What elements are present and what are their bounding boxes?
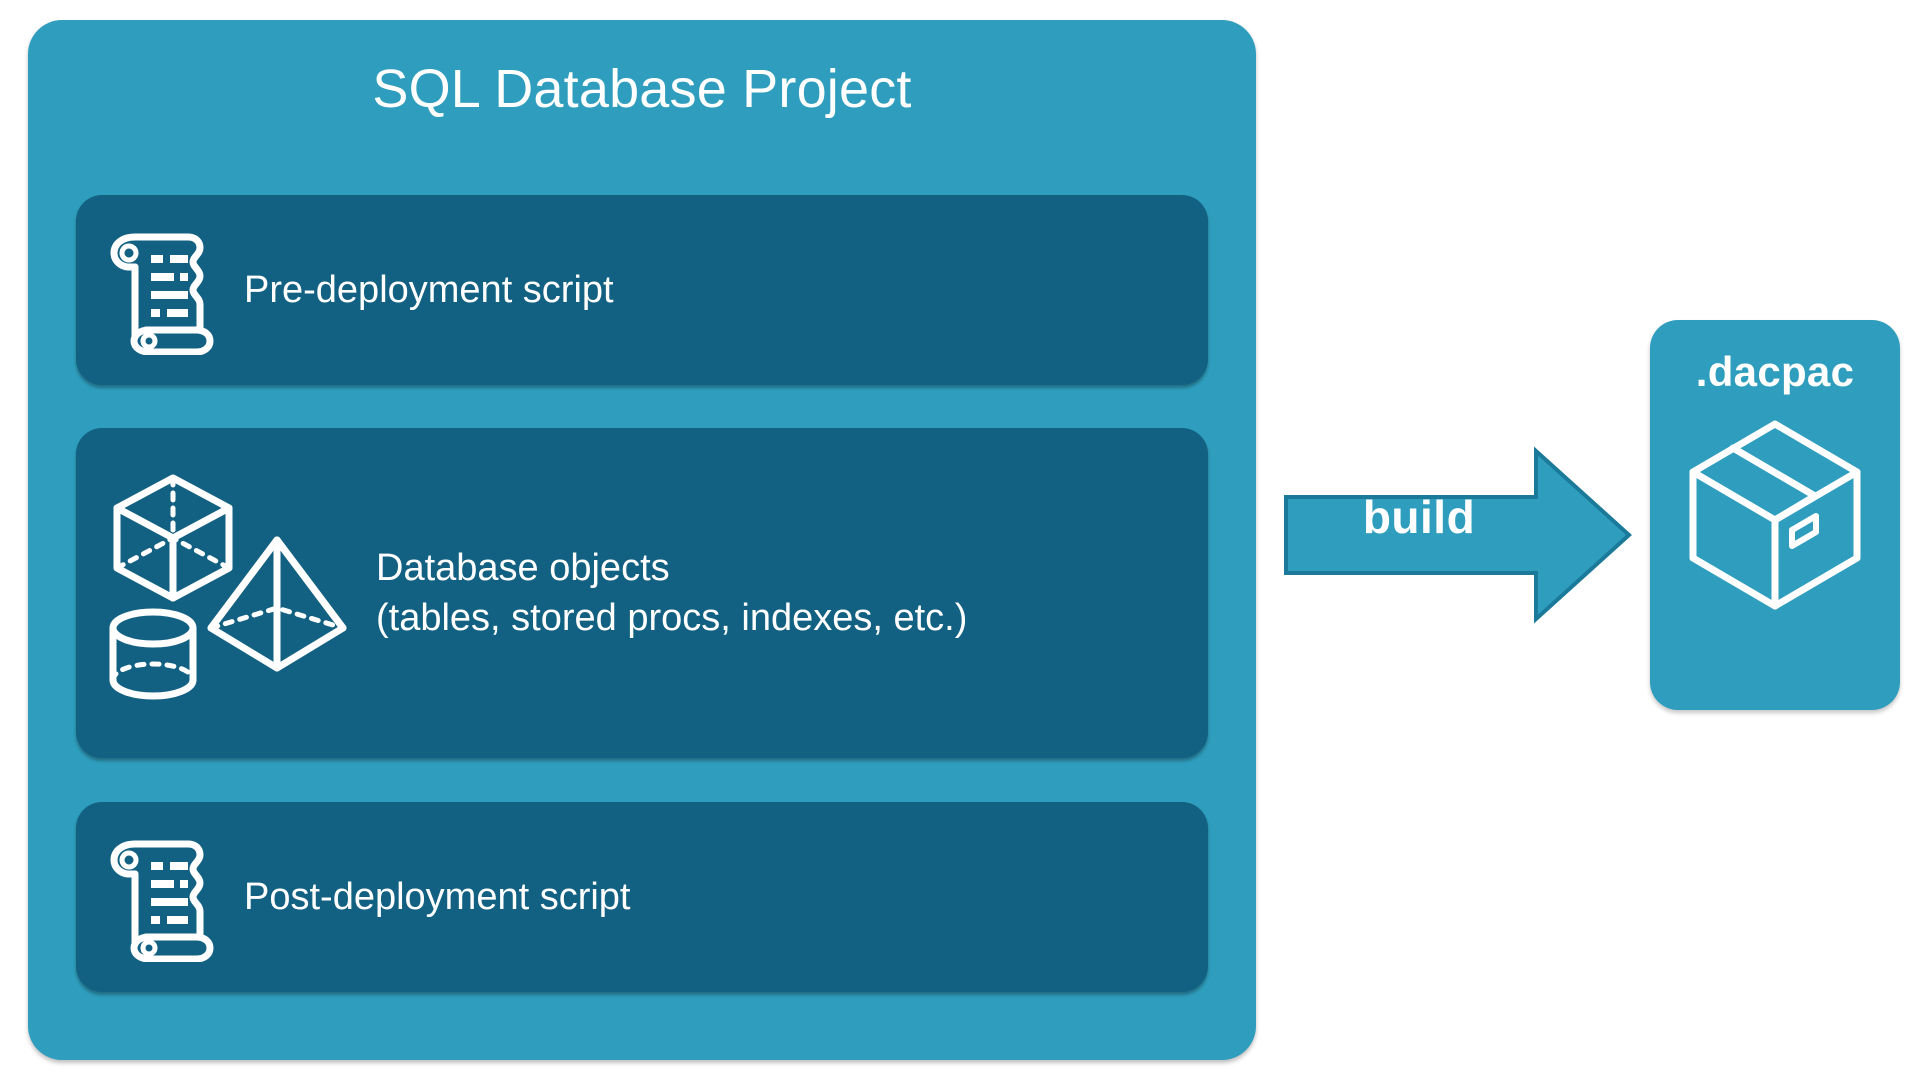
card-label-database-objects: Database objects (tables, stored procs, … [376,543,967,643]
scroll-icon [76,225,244,355]
card-pre-deployment[interactable]: Pre-deployment script [76,195,1208,385]
dacpac-output-card[interactable]: .dacpac [1650,320,1900,710]
cylinder-shape [113,612,193,696]
card-database-objects[interactable]: Database objects (tables, stored procs, … [76,428,1208,758]
cube-shape [117,478,229,598]
page-title: SQL Database Project [28,60,1256,119]
scroll-icon [76,832,244,962]
sql-database-project-panel: SQL Database Project [28,20,1256,1060]
card-post-deployment[interactable]: Post-deployment script [76,802,1208,992]
right-arrow-icon [1284,445,1634,625]
shapes-icon [76,468,376,718]
card-label-pre-deployment: Pre-deployment script [244,265,614,315]
dacpac-title: .dacpac [1696,348,1855,396]
diagram-canvas: SQL Database Project [0,0,1920,1080]
card-label-post-deployment: Post-deployment script [244,872,631,922]
package-box-icon [1680,410,1870,620]
